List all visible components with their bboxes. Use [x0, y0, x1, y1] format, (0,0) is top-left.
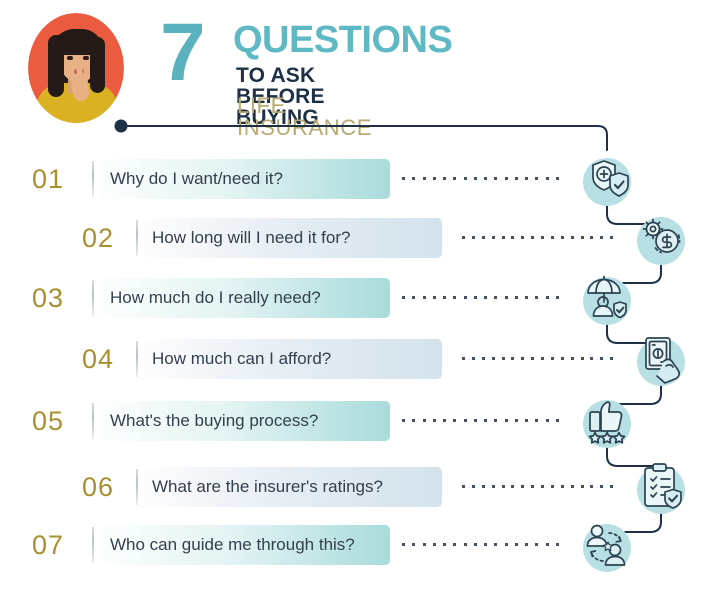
umbrella-person-shield-icon-glyph — [579, 269, 635, 325]
row-question-text: How long will I need it for? — [152, 216, 350, 260]
question-row[interactable]: 04How much can I afford? — [0, 337, 720, 381]
gears-dollar-coin-icon — [633, 209, 689, 265]
two-people-exchange-icon-glyph — [579, 516, 635, 572]
row-dotted-leader — [402, 419, 566, 423]
two-people-exchange-icon — [579, 516, 635, 572]
row-number: 01 — [32, 157, 64, 201]
row-divider — [136, 220, 138, 256]
umbrella-person-shield-icon — [579, 269, 635, 325]
thumbs-up-stars-icon-glyph — [579, 392, 635, 448]
row-dotted-leader — [402, 543, 566, 547]
row-divider — [92, 527, 94, 563]
row-divider — [92, 161, 94, 197]
thumbs-up-stars-icon — [579, 392, 635, 448]
row-dotted-leader — [402, 177, 566, 181]
gears-dollar-coin-icon-glyph — [633, 209, 689, 265]
row-dotted-leader — [402, 296, 566, 300]
row-question-text: What's the buying process? — [110, 399, 318, 443]
row-number: 06 — [82, 465, 114, 509]
hand-holding-money-icon — [633, 330, 689, 386]
row-dotted-leader — [462, 485, 620, 489]
question-row[interactable]: 02How long will I need it for? — [0, 216, 720, 260]
question-row[interactable]: 06What are the insurer's ratings? — [0, 465, 720, 509]
row-dotted-leader — [462, 236, 620, 240]
hand-holding-money-icon-glyph — [633, 330, 689, 386]
row-dotted-leader — [462, 357, 620, 361]
row-number: 04 — [82, 337, 114, 381]
row-divider — [136, 469, 138, 505]
row-question-text: How much can I afford? — [152, 337, 331, 381]
row-number: 07 — [32, 523, 64, 567]
row-divider — [92, 403, 94, 439]
infographic-root: 7 QUESTIONS TO ASK BEFORE BUYING LIFE IN… — [0, 0, 720, 597]
clipboard-checklist-shield-icon-glyph — [633, 458, 689, 514]
row-divider — [136, 341, 138, 377]
row-number: 02 — [82, 216, 114, 260]
row-question-text: Who can guide me through this? — [110, 523, 355, 567]
row-number: 05 — [32, 399, 64, 443]
shield-medical-check-icon-glyph — [579, 150, 635, 206]
row-divider — [92, 280, 94, 316]
row-question-text: How much do I really need? — [110, 276, 321, 320]
row-question-text: Why do I want/need it? — [110, 157, 283, 201]
row-question-text: What are the insurer's ratings? — [152, 465, 383, 509]
clipboard-checklist-shield-icon — [633, 458, 689, 514]
shield-medical-check-icon — [579, 150, 635, 206]
row-number: 03 — [32, 276, 64, 320]
